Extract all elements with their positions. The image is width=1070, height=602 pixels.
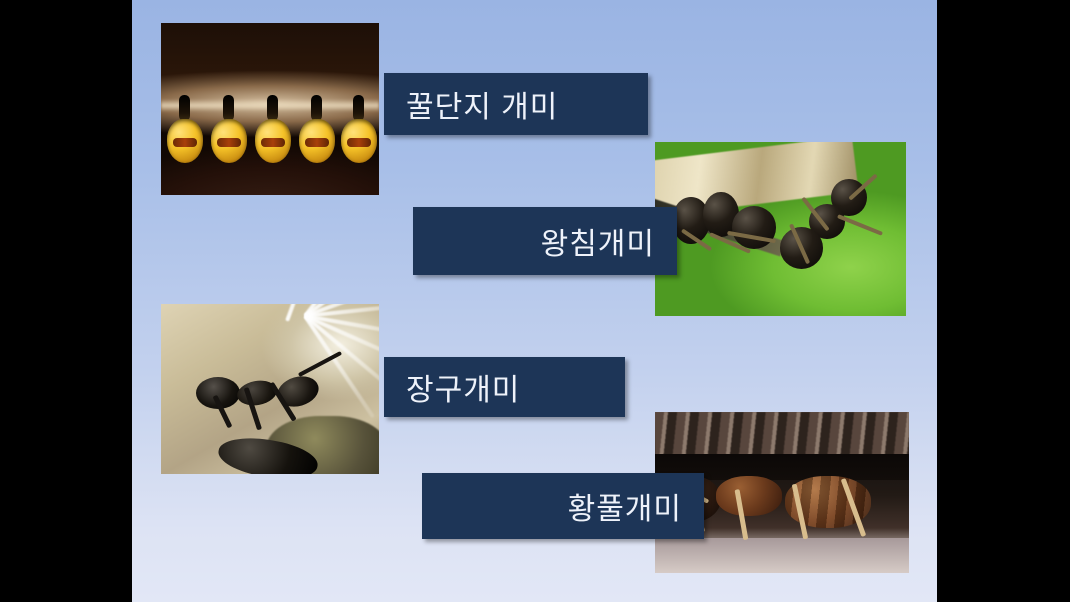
label-jangu-ant: 장구개미	[384, 357, 625, 417]
honeypot-ant-head	[267, 95, 278, 121]
photo-black-ants-on-leaf	[655, 142, 906, 316]
bark-floor	[655, 538, 909, 573]
slide-viewer: 꿀단지 개미 왕침개미 장구개미 황풀개미	[0, 0, 1070, 602]
label-bullet-ant: 왕침개미	[413, 207, 677, 275]
photo-sepia-ant-dandelion	[161, 304, 379, 474]
honeypot-replete	[341, 119, 377, 163]
sepia-ant-gaster	[273, 372, 321, 411]
red-ant-thorax	[716, 476, 782, 516]
honeypot-replete	[167, 119, 203, 163]
photo-honeypot-ants	[161, 23, 379, 195]
honeypot-ant-head	[311, 95, 322, 121]
black-ant-left	[670, 187, 780, 260]
honeypot-replete	[255, 119, 291, 163]
honeypot-ant-head	[223, 95, 234, 121]
honeypot-ant-head	[353, 95, 364, 121]
letterbox-right	[937, 0, 1070, 602]
black-ant-right	[770, 177, 890, 281]
label-yellow-ant: 황풀개미	[422, 473, 704, 539]
label-honeypot-ant: 꿀단지 개미	[384, 73, 648, 135]
honeypot-replete	[299, 119, 335, 163]
presentation-slide: 꿀단지 개미 왕침개미 장구개미 황풀개미	[132, 0, 937, 602]
honeypot-replete	[211, 119, 247, 163]
honeypot-ant-head	[179, 95, 190, 121]
letterbox-left	[0, 0, 132, 602]
